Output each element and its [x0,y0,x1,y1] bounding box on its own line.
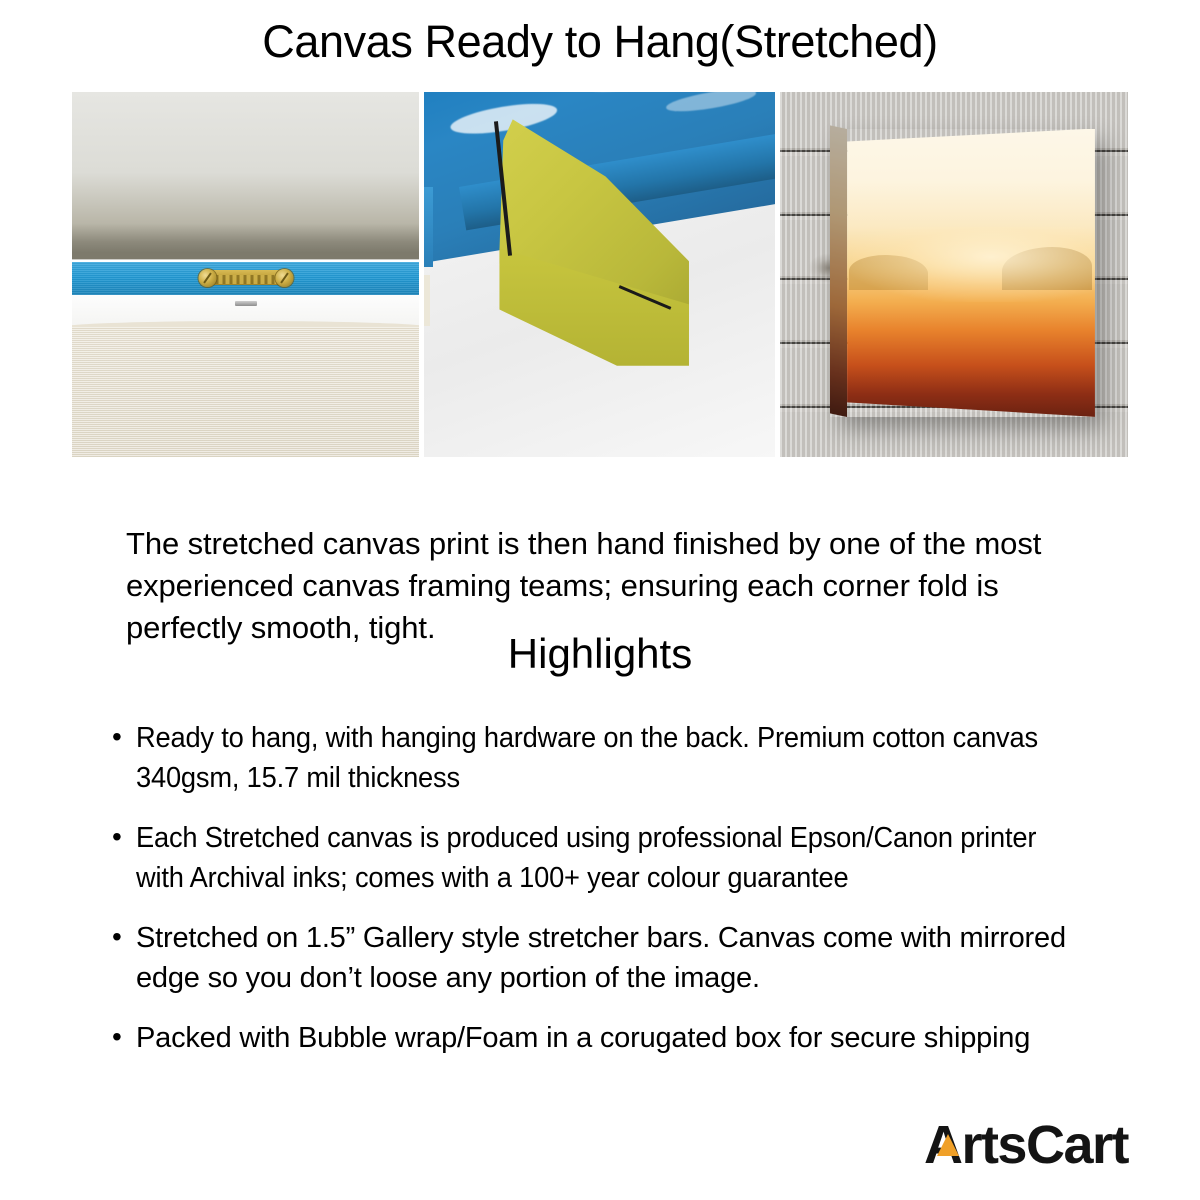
triangle-icon [937,1134,959,1156]
highlights-list: • Ready to hang, with hanging hardware o… [112,718,1122,1078]
cloud-wisp [665,92,757,116]
highlight-item-text: Stretched on 1.5” Gallery style stretche… [136,918,1122,998]
hanger-screw-left [198,269,216,287]
highlights-heading: Highlights [0,628,1200,680]
logo-rest: rtsCart [961,1115,1128,1175]
sawtooth-hanger-icon [198,268,293,288]
gallery-image-canvas-hung-on-wall [780,92,1128,457]
highlight-item: • Packed with Bubble wrap/Foam in a coru… [112,1018,1122,1058]
highlight-item: • Ready to hang, with hanging hardware o… [112,718,1122,798]
landscape-sun-haze [847,227,1095,302]
hanger-wire-clip [235,301,257,306]
hanger-screw-right [275,269,293,287]
canvas-wrapped-side [830,125,847,417]
highlight-item-text: Packed with Bubble wrap/Foam in a coruga… [136,1018,1122,1058]
adjacent-canvas-sliver [424,187,433,267]
bullet-icon: • [112,1018,136,1056]
hanger-teeth [215,275,276,284]
hung-canvas-print [830,129,1094,417]
raw-canvas-texture [72,327,419,457]
highlight-item-text: Ready to hang, with hanging hardware on … [136,718,1063,798]
artscart-logo: ArtsCart [924,1117,1128,1173]
bullet-icon: • [112,818,136,856]
highlight-item: • Stretched on 1.5” Gallery style stretc… [112,918,1122,998]
page-title: Canvas Ready to Hang(Stretched) [0,14,1200,70]
gallery-image-canvas-back-hanging-hardware [72,92,419,457]
highlight-item-text: Each Stretched canvas is produced using … [136,818,1063,898]
logo-wordmark: ArtsCart [924,1117,1128,1173]
adjacent-canvas-edge [424,275,430,326]
product-image-gallery [72,92,1128,457]
highlight-item: • Each Stretched canvas is produced usin… [112,818,1122,898]
bullet-icon: • [112,918,136,956]
bullet-icon: • [112,718,136,756]
cloud-wisp [449,98,559,139]
gallery-image-canvas-corner-fold [424,92,775,457]
